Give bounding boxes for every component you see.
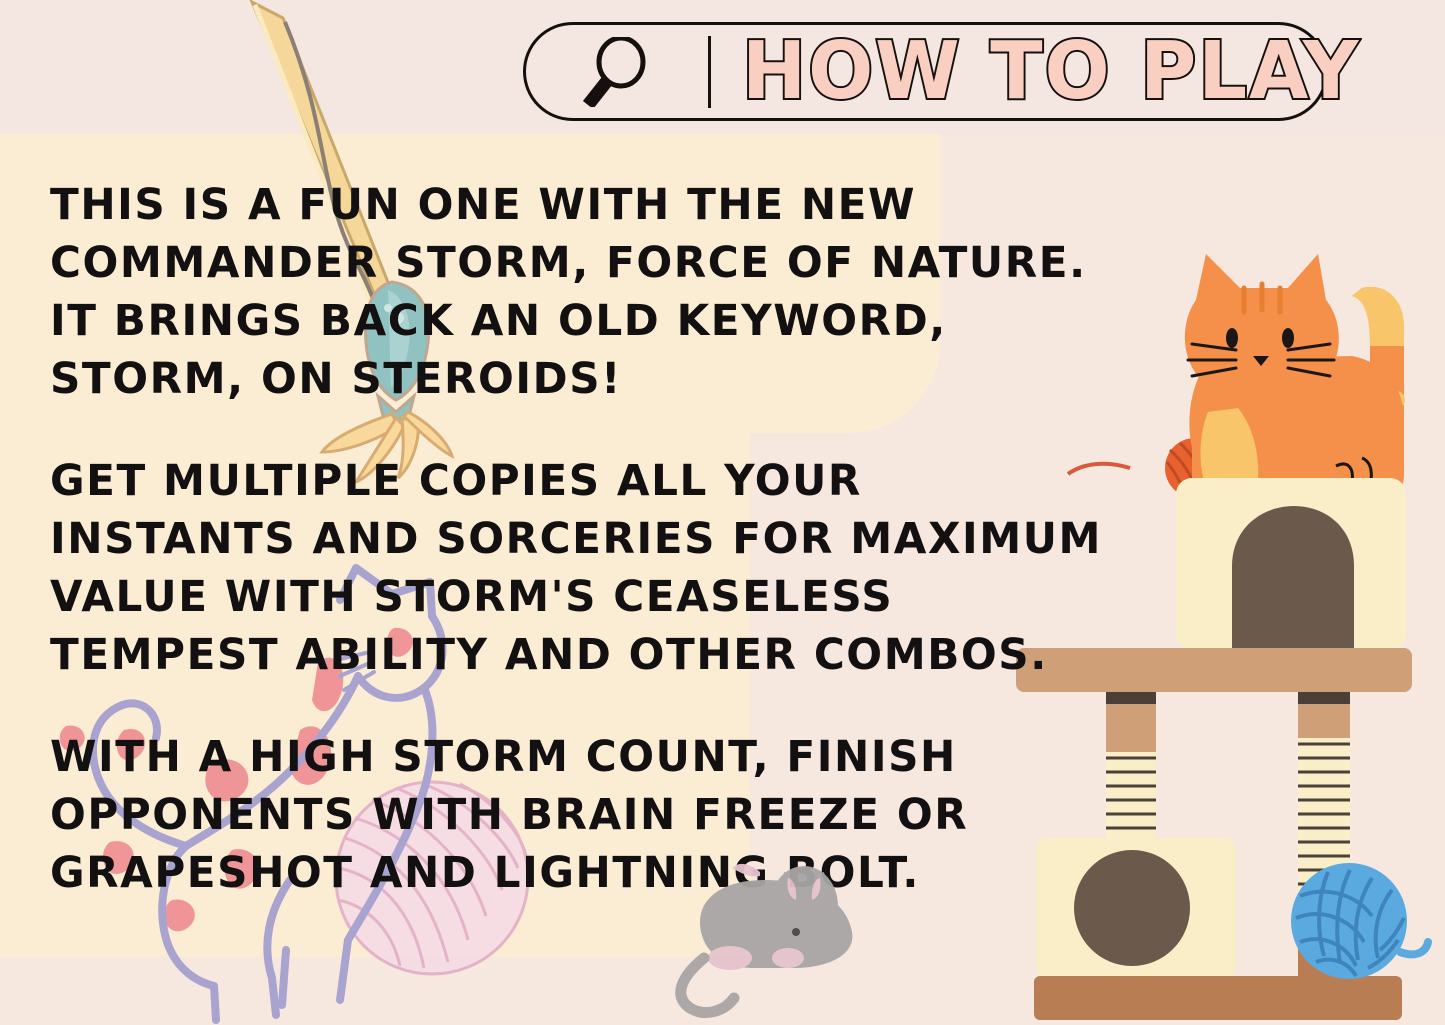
paragraph-1: This is a fun one with the new Commander… (50, 176, 1104, 408)
body-copy: This is a fun one with the new Commander… (50, 176, 1125, 902)
page-background-bottom (0, 957, 1445, 1025)
paragraph-2: Get multiple copies all your instants an… (50, 452, 1104, 684)
page-title: HOW TO PLAY (742, 27, 1295, 115)
orange-tabby-cat-icon (1185, 254, 1405, 504)
magnifier-icon (583, 37, 649, 107)
badge-divider (708, 36, 711, 108)
how-to-play-card: This is a fun one with the new Commander… (0, 0, 1445, 1025)
paragraph-3: With a high storm count, finish opponent… (50, 728, 1104, 902)
